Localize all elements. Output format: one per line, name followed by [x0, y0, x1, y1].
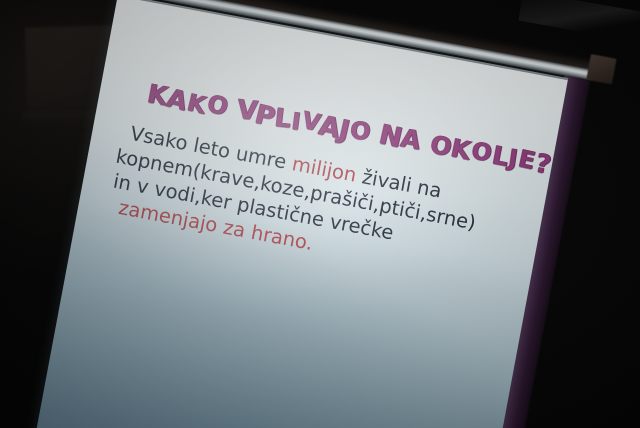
screenshot-root: KAKO VPLIVAJO NA OKOLJE? Vsako leto umre… [0, 0, 640, 428]
projection-screen-assembly: KAKO VPLIVAJO NA OKOLJE? Vsako leto umre… [32, 0, 588, 428]
presentation-slide: KAKO VPLIVAJO NA OKOLJE? Vsako leto umre… [32, 0, 569, 428]
projection-screen-surface: KAKO VPLIVAJO NA OKOLJE? Vsako leto umre… [32, 0, 569, 428]
roller-end-cap [586, 54, 616, 84]
